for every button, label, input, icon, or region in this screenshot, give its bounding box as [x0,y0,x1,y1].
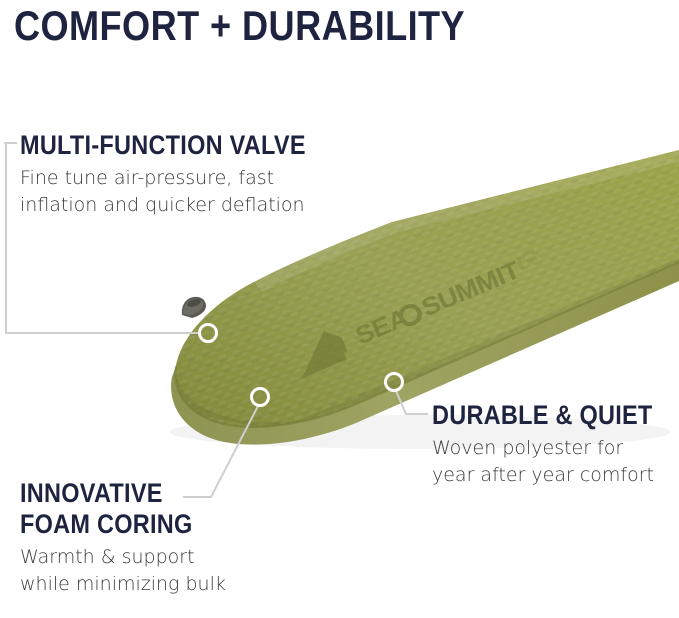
feature-description-line: year after year comfort [432,462,679,489]
feature-multi-function-valve: MULTI-FUNCTION VALVE Fine tune air-press… [20,130,348,219]
product-feature-infographic: SEA SUMMIT [0,0,679,618]
feature-description: Fine tune air-pressure, fast inflation a… [20,165,348,219]
feature-heading-line: INNOVATIVE [20,478,199,509]
feature-description-line: Fine tune air-pressure, fast [20,165,348,192]
multi-function-valve [182,297,206,318]
feature-heading: DURABLE & QUIET [432,400,653,431]
page-title: COMFORT + DURABILITY [14,2,465,50]
feature-description: Woven polyester for year after year comf… [432,435,679,489]
feature-description: Warmth & support while minimizing bulk [20,544,226,598]
feature-heading-line: FOAM CORING [20,509,199,540]
feature-heading: MULTI-FUNCTION VALVE [20,130,306,161]
feature-description-line: Warmth & support [20,544,226,571]
feature-durable-and-quiet: DURABLE & QUIET Woven polyester for year… [432,400,679,489]
feature-description-line: Woven polyester for [432,435,679,462]
feature-description-line: inflation and quicker deflation [20,192,348,219]
feature-innovative-foam-coring: INNOVATIVE FOAM CORING Warmth & support … [20,478,226,598]
feature-description-line: while minimizing bulk [20,571,226,598]
